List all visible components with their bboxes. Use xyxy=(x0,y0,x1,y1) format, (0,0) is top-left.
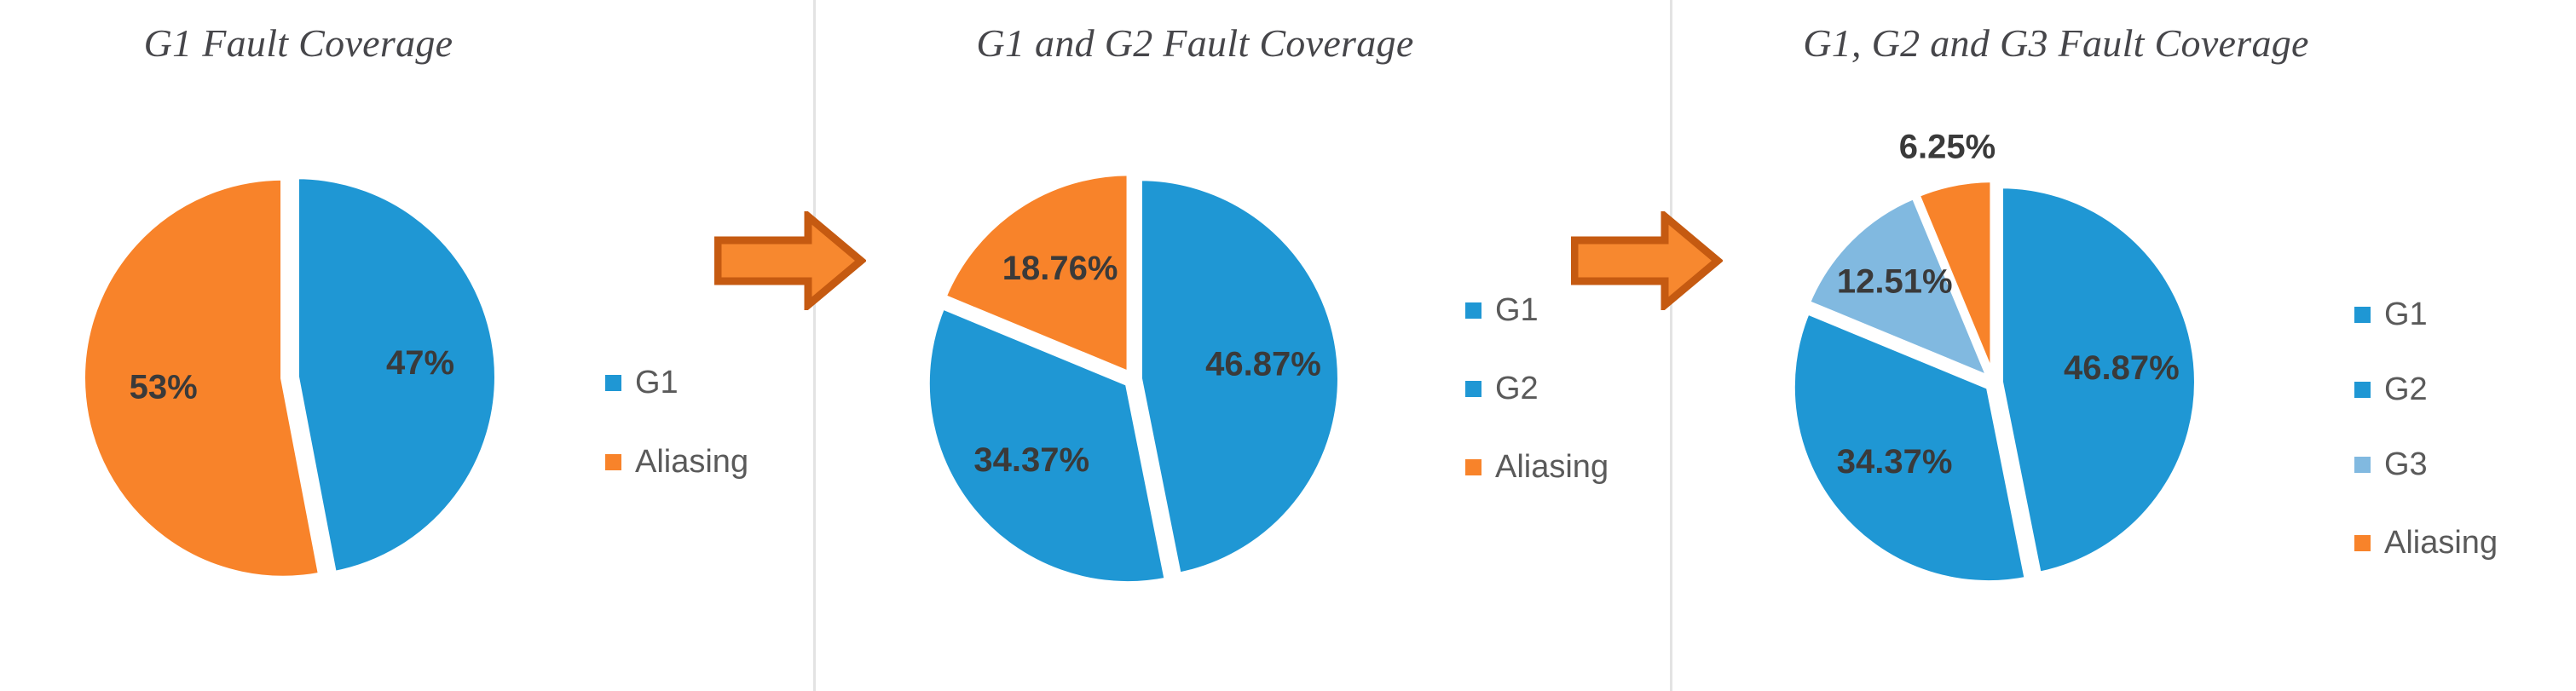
pie-2-label-g2: 34.37% xyxy=(973,441,1089,479)
legend-swatch-g1-icon xyxy=(2354,307,2371,323)
legend-swatch-aliasing-icon xyxy=(605,454,621,470)
legend-swatch-g2-icon xyxy=(2354,382,2371,398)
chart-2-legend: G1 G2 Aliasing xyxy=(1465,294,1670,541)
pie-chart-3: 46.87% 34.37% 12.51% 6.25% xyxy=(1783,136,2261,613)
legend-item-g2[interactable]: G2 xyxy=(1465,372,1539,405)
legend-label-g3: G3 xyxy=(2384,448,2428,481)
pie-3-label-g3: 12.51% xyxy=(1837,262,1953,300)
legend-item-aliasing[interactable]: Aliasing xyxy=(2354,527,2498,559)
pie-2-label-g1: 46.87% xyxy=(1205,345,1321,383)
chart-panel-1: G1 Fault Coverage 47% 53% G1 Aliasing xyxy=(0,0,813,691)
legend-item-g1[interactable]: G1 xyxy=(2354,298,2428,331)
legend-item-aliasing[interactable]: Aliasing xyxy=(1465,451,1609,483)
legend-swatch-g2-icon xyxy=(1465,381,1481,397)
legend-label-g1: G1 xyxy=(1495,294,1539,326)
pie-3-label-g1: 46.87% xyxy=(2064,349,2180,387)
chart-1-legend: G1 Aliasing xyxy=(605,366,810,520)
figure-canvas: G1 Fault Coverage 47% 53% G1 Aliasing xyxy=(0,0,2576,691)
legend-swatch-g3-icon xyxy=(2354,457,2371,473)
chart-2-title: G1 and G2 Fault Coverage xyxy=(816,20,1574,66)
legend-item-g2[interactable]: G2 xyxy=(2354,373,2428,406)
legend-label-aliasing: Aliasing xyxy=(1495,451,1609,483)
chart-3-title: G1, G2 and G3 Fault Coverage xyxy=(1672,20,2440,66)
pie-3-label-g2: 34.37% xyxy=(1837,443,1953,481)
legend-swatch-g1-icon xyxy=(1465,302,1481,319)
legend-item-g1[interactable]: G1 xyxy=(605,366,679,399)
legend-label-g2: G2 xyxy=(1495,372,1539,405)
legend-label-g1: G1 xyxy=(2384,298,2428,331)
chart-panel-2: G1 and G2 Fault Coverage 46.87% 34.37% 1… xyxy=(816,0,1670,691)
legend-item-g3[interactable]: G3 xyxy=(2354,448,2428,481)
legend-label-aliasing: Aliasing xyxy=(635,446,748,478)
pie-1-label-aliasing: 53% xyxy=(130,369,198,406)
chart-3-legend: G1 G2 G3 Aliasing xyxy=(2354,298,2567,622)
legend-label-aliasing: Aliasing xyxy=(2384,527,2498,559)
legend-item-aliasing[interactable]: Aliasing xyxy=(605,446,748,478)
pie-1-slice-aliasing xyxy=(83,178,321,579)
pie-chart-1: 47% 53% xyxy=(81,162,524,596)
legend-swatch-aliasing-icon xyxy=(2354,535,2371,551)
legend-label-g2: G2 xyxy=(2384,373,2428,406)
chart-panel-3: G1, G2 and G3 Fault Coverage 46.87% 34.3… xyxy=(1672,0,2576,691)
legend-label-g1: G1 xyxy=(635,366,679,399)
pie-1-label-g1: 47% xyxy=(386,344,454,382)
pie-chart-2: 46.87% 34.37% 18.76% xyxy=(922,162,1374,596)
pie-2-label-aliasing: 18.76% xyxy=(1002,250,1118,287)
legend-swatch-g1-icon xyxy=(605,375,621,391)
chart-1-title: G1 Fault Coverage xyxy=(0,20,597,66)
pie-3-label-aliasing: 6.25% xyxy=(1899,129,1996,166)
legend-swatch-aliasing-icon xyxy=(1465,459,1481,475)
legend-item-g1[interactable]: G1 xyxy=(1465,294,1539,326)
